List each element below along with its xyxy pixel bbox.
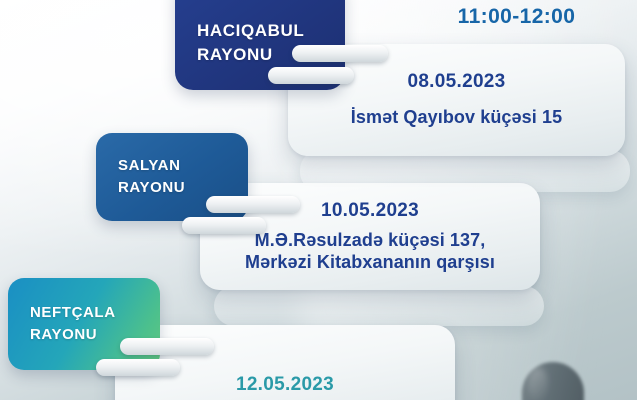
district-name-line2: RAYONU bbox=[197, 46, 327, 64]
event-date: 08.05.2023 bbox=[407, 71, 505, 93]
district-name-line1: HACIQABUL bbox=[197, 22, 327, 40]
card-stack-edge-lower bbox=[214, 286, 544, 326]
district-name-line1: NEFTÇALA bbox=[30, 305, 142, 321]
district-chip-haciqabul[interactable]: HACIQABUL RAYONU bbox=[175, 0, 345, 90]
event-address-line1: İsmət Qayıbov küçəsi 15 bbox=[351, 107, 562, 129]
event-date: 12.05.2023 bbox=[236, 374, 334, 396]
district-name-line2: RAYONU bbox=[118, 180, 230, 196]
event-address-line2: Mərkəzi Kitabxananın qarşısı bbox=[231, 252, 509, 274]
district-name-line1: SALYAN bbox=[118, 158, 230, 174]
address-card-neftcala[interactable]: 12.05.2023 bbox=[115, 325, 455, 400]
microphone-icon bbox=[522, 362, 584, 400]
district-chip-salyan[interactable]: SALYAN RAYONU bbox=[96, 133, 248, 221]
poster-canvas: 11:00-12:00 NEFTÇALA RAYONU 12.05.2023 S… bbox=[0, 0, 637, 400]
event-date: 10.05.2023 bbox=[321, 200, 419, 222]
district-chip-neftcala[interactable]: NEFTÇALA RAYONU bbox=[8, 278, 160, 370]
event-address-line1: M.Ə.Rəsulzadə küçəsi 137, bbox=[241, 230, 500, 252]
address-card-salyan[interactable]: 10.05.2023 M.Ə.Rəsulzadə küçəsi 137, Mər… bbox=[200, 183, 540, 290]
microphone-head bbox=[522, 362, 584, 400]
district-name-line2: RAYONU bbox=[30, 327, 142, 343]
time-range-label: 11:00-12:00 bbox=[404, 5, 629, 29]
